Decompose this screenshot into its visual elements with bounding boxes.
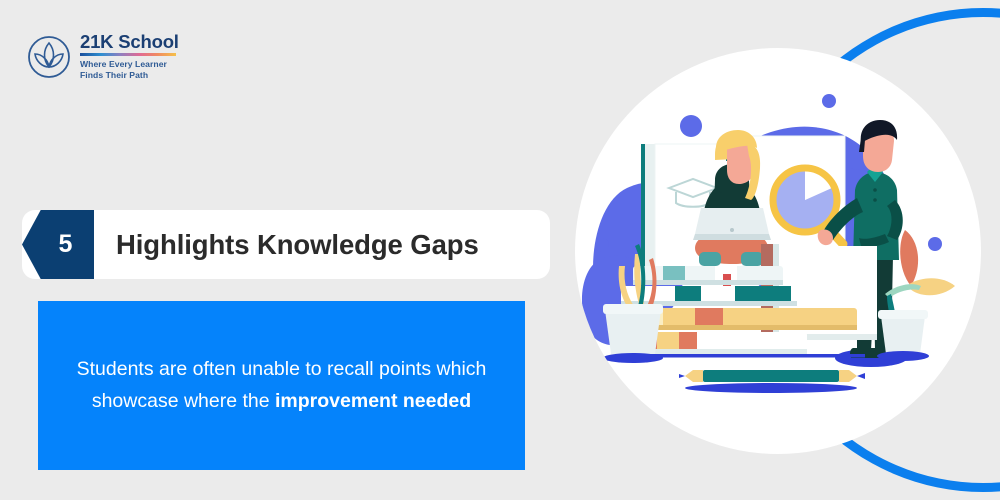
logo-tagline-line2: Finds Their Path bbox=[80, 70, 179, 81]
logo-gradient-rule bbox=[80, 53, 176, 56]
logo-text-block: 21K School Where Every Learner Finds The… bbox=[80, 32, 179, 81]
title-banner: 5 Highlights Knowledge Gaps bbox=[22, 210, 550, 279]
illustration-container bbox=[575, 48, 981, 454]
decor-dot bbox=[822, 94, 836, 108]
description-text-bold: improvement needed bbox=[275, 390, 471, 412]
logo-tagline-line1: Where Every Learner bbox=[80, 59, 179, 70]
brand-logo[interactable]: 21K School Where Every Learner Finds The… bbox=[27, 29, 237, 84]
decor-dot bbox=[680, 115, 702, 137]
pencil bbox=[679, 370, 865, 393]
decor-dot bbox=[928, 237, 942, 251]
description-text: Students are often unable to recall poin… bbox=[54, 354, 509, 417]
logo-tagline: Where Every Learner Finds Their Path bbox=[80, 59, 179, 81]
slide-canvas: 21K School Where Every Learner Finds The… bbox=[0, 0, 1000, 500]
page-title: Highlights Knowledge Gaps bbox=[116, 210, 479, 279]
banner-step-number: 5 bbox=[22, 210, 94, 279]
logo-title: 21K School bbox=[80, 32, 179, 51]
decor-dot bbox=[595, 238, 609, 252]
description-panel: Students are often unable to recall poin… bbox=[38, 301, 525, 470]
lotus-circle-logo-icon bbox=[27, 35, 71, 79]
